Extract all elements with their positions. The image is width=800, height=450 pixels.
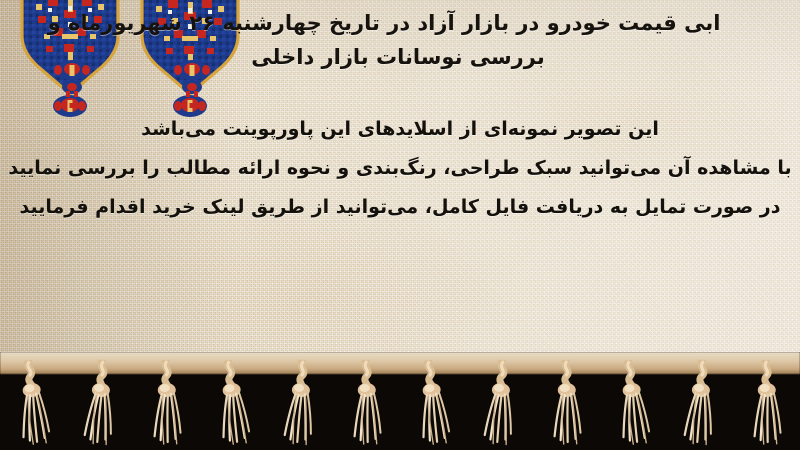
fringe-tassel: [349, 360, 384, 447]
slide-title-line-2: بررسی نوسانات بازار داخلی: [0, 40, 796, 74]
slide-body: این تصویر نمونه‌ای از اسلایدهای این پاور…: [0, 110, 800, 227]
canvas-background: ابی قیمت خودرو در بازار آزاد در تاریخ چه…: [0, 0, 800, 368]
slide-title-line-1: ابی قیمت خودرو در بازار آزاد در تاریخ چه…: [0, 6, 768, 40]
slide-body-line-3: در صورت تمایل به دریافت فایل کامل، می‌تو…: [0, 188, 800, 227]
fringe-tassel: [80, 359, 120, 447]
carpet-fringe-tassels: [0, 352, 800, 450]
fringe-tassel: [480, 359, 520, 447]
slide-body-line-1: این تصویر نمونه‌ای از اسلایدهای این پاور…: [0, 110, 800, 149]
fringe-tassel: [149, 360, 184, 447]
fringe-tassel: [680, 359, 720, 447]
slide-body-line-2: با مشاهده آن می‌توانید سبک طراحی، رنگ‌بن…: [0, 149, 800, 188]
fringe-selvedge-cord: [0, 352, 800, 374]
slide-title: ابی قیمت خودرو در بازار آزاد در تاریخ چه…: [0, 6, 796, 74]
slide-canvas: ابی قیمت خودرو در بازار آزاد در تاریخ چه…: [0, 0, 800, 450]
fringe-tassel: [280, 359, 320, 447]
fringe-tassel: [749, 360, 784, 447]
fringe-tassel: [549, 360, 584, 447]
